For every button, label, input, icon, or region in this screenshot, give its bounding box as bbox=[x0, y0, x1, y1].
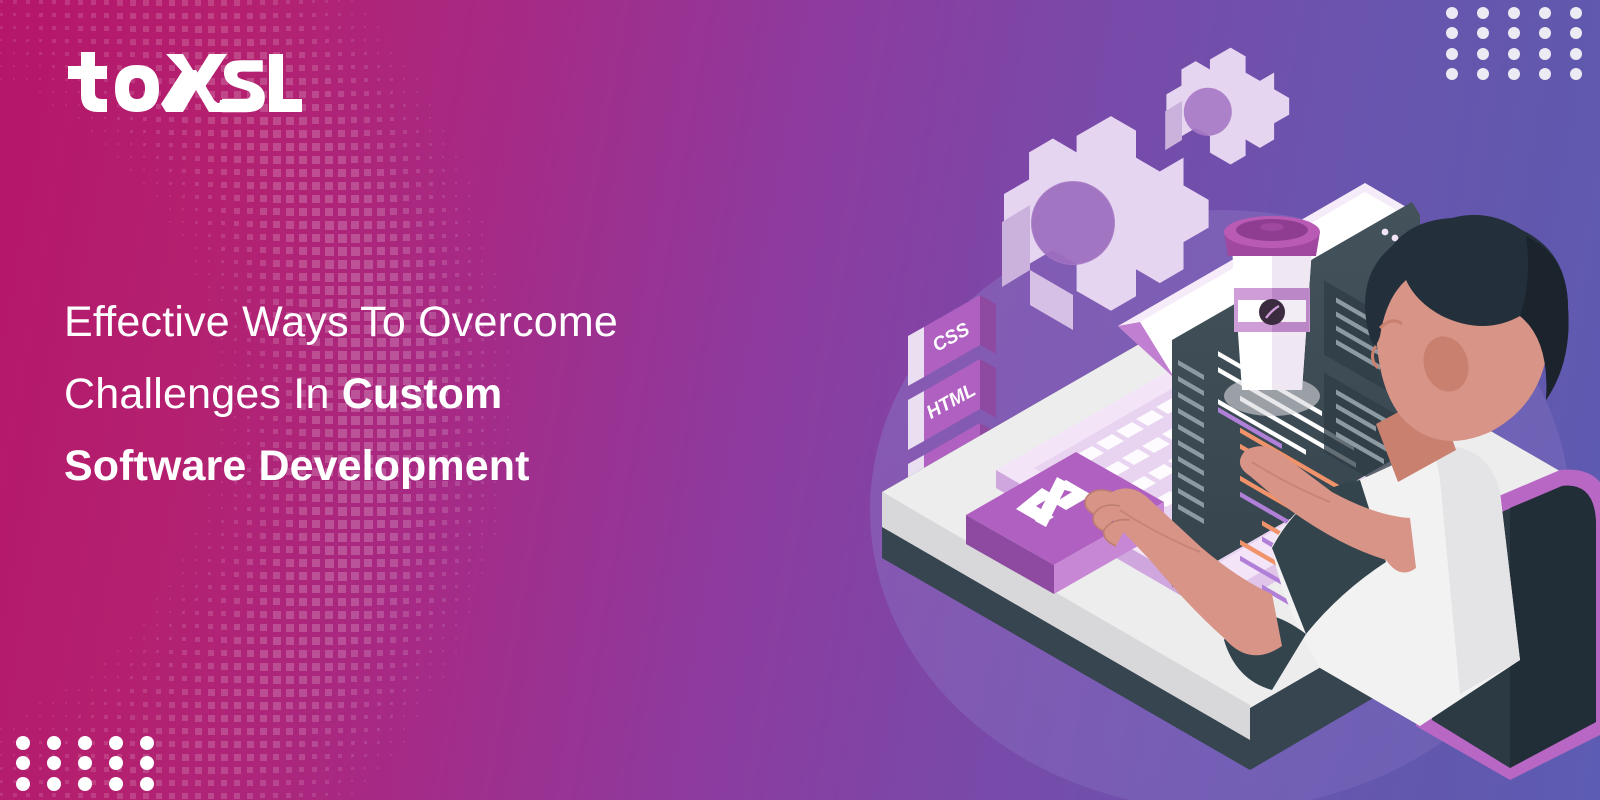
halftone-square bbox=[234, 715, 241, 722]
halftone-square bbox=[442, 637, 444, 639]
halftone-square bbox=[429, 117, 431, 119]
halftone-square bbox=[195, 143, 200, 148]
halftone-square bbox=[286, 182, 294, 190]
halftone-square bbox=[390, 572, 397, 579]
halftone-square bbox=[468, 195, 470, 197]
halftone-square bbox=[429, 182, 433, 186]
halftone-square bbox=[429, 546, 435, 552]
halftone-square bbox=[312, 689, 319, 696]
halftone-square bbox=[455, 520, 459, 524]
halftone-square bbox=[182, 637, 186, 641]
halftone-square bbox=[169, 195, 171, 197]
halftone-square bbox=[403, 546, 410, 553]
halftone-square bbox=[208, 169, 213, 174]
halftone-square bbox=[325, 715, 331, 721]
halftone-square bbox=[299, 26, 304, 31]
halftone-square bbox=[234, 13, 240, 19]
halftone-square bbox=[13, 52, 15, 54]
halftone-square bbox=[169, 156, 173, 160]
halftone-square bbox=[169, 767, 175, 773]
halftone-square bbox=[273, 234, 280, 241]
halftone-square bbox=[195, 39, 202, 46]
halftone-square bbox=[455, 624, 457, 626]
halftone-square bbox=[312, 624, 320, 632]
headline-line-1: Effective Ways To Overcome bbox=[64, 286, 824, 358]
halftone-square bbox=[234, 260, 238, 264]
halftone-square bbox=[416, 598, 421, 603]
halftone-square bbox=[104, 728, 108, 732]
halftone-square bbox=[234, 247, 239, 252]
halftone-square bbox=[260, 637, 267, 644]
halftone-square bbox=[273, 273, 280, 280]
halftone-square bbox=[169, 611, 171, 613]
halftone-square bbox=[442, 247, 447, 252]
halftone-square bbox=[455, 598, 458, 601]
halftone-square bbox=[273, 624, 281, 632]
halftone-square bbox=[390, 169, 396, 175]
halftone-square bbox=[312, 143, 320, 151]
halftone-square bbox=[247, 26, 253, 32]
halftone-square bbox=[221, 559, 225, 563]
halftone-square bbox=[403, 234, 410, 241]
halftone-square bbox=[364, 507, 373, 516]
halftone-square bbox=[338, 689, 345, 696]
halftone-square bbox=[364, 702, 369, 707]
halftone-square bbox=[65, 26, 69, 30]
halftone-square bbox=[429, 221, 434, 226]
developer-illustration: CSS HTML C++ bbox=[820, 40, 1600, 800]
halftone-square bbox=[403, 117, 406, 120]
halftone-square bbox=[286, 26, 291, 31]
halftone-square bbox=[325, 754, 330, 759]
halftone-square bbox=[325, 702, 332, 709]
halftone-square bbox=[403, 533, 410, 540]
halftone-square bbox=[234, 741, 241, 748]
halftone-square bbox=[104, 689, 107, 692]
halftone-square bbox=[390, 156, 396, 162]
halftone-square bbox=[273, 247, 280, 254]
halftone-square bbox=[234, 533, 238, 537]
halftone-square bbox=[338, 130, 345, 137]
halftone-square bbox=[182, 0, 188, 6]
halftone-square bbox=[208, 0, 214, 6]
halftone-square bbox=[481, 546, 483, 548]
halftone-square bbox=[52, 26, 56, 30]
halftone-square bbox=[377, 702, 381, 706]
halftone-square bbox=[234, 793, 240, 799]
dot bbox=[1508, 27, 1520, 39]
halftone-square bbox=[377, 559, 385, 567]
halftone-square bbox=[390, 182, 396, 188]
halftone-square bbox=[299, 754, 305, 760]
halftone-square bbox=[377, 637, 383, 643]
halftone-square bbox=[156, 689, 161, 694]
halftone-square bbox=[247, 13, 253, 19]
halftone-square bbox=[325, 91, 331, 97]
halftone-square bbox=[260, 195, 267, 202]
halftone-square bbox=[351, 533, 360, 542]
halftone-square bbox=[377, 663, 383, 669]
headline-line-2: Challenges In Custom bbox=[64, 358, 824, 430]
dot bbox=[1446, 7, 1458, 19]
halftone-square bbox=[455, 273, 459, 277]
halftone-square bbox=[130, 676, 133, 679]
halftone-square bbox=[156, 728, 162, 734]
halftone-square bbox=[390, 650, 395, 655]
halftone-square bbox=[182, 585, 184, 587]
halftone-square bbox=[143, 39, 149, 45]
halftone-square bbox=[273, 663, 281, 671]
halftone-square bbox=[351, 598, 359, 606]
halftone-square bbox=[481, 520, 483, 522]
halftone-square bbox=[286, 533, 293, 540]
halftone-square bbox=[299, 143, 307, 151]
halftone-square bbox=[325, 13, 328, 16]
halftone-square bbox=[455, 611, 457, 613]
halftone-square bbox=[351, 520, 360, 529]
halftone-square bbox=[130, 130, 133, 133]
halftone-square bbox=[260, 13, 266, 19]
halftone-square bbox=[390, 91, 393, 94]
halftone-square bbox=[351, 130, 358, 137]
halftone-square bbox=[143, 702, 148, 707]
halftone-square bbox=[429, 169, 433, 173]
halftone-square bbox=[208, 143, 214, 149]
halftone-square bbox=[286, 13, 291, 18]
halftone-square bbox=[39, 26, 43, 30]
halftone-square bbox=[416, 611, 421, 616]
halftone-square bbox=[442, 572, 446, 576]
halftone-square bbox=[273, 156, 281, 164]
halftone-square bbox=[377, 520, 385, 528]
halftone-square bbox=[442, 585, 446, 589]
halftone-square bbox=[442, 195, 445, 198]
halftone-square bbox=[208, 507, 210, 509]
halftone-square bbox=[247, 546, 252, 551]
halftone-square bbox=[299, 221, 307, 229]
halftone-square bbox=[286, 221, 294, 229]
halftone-square bbox=[481, 234, 483, 236]
halftone-square bbox=[390, 78, 393, 81]
halftone-square bbox=[403, 78, 405, 80]
halftone-square bbox=[312, 169, 320, 177]
halftone-square bbox=[403, 156, 408, 161]
halftone-square bbox=[429, 273, 435, 279]
halftone-square bbox=[351, 39, 354, 42]
halftone-square bbox=[403, 637, 408, 642]
halftone-square bbox=[195, 546, 197, 548]
halftone-square bbox=[234, 221, 239, 226]
halftone-square bbox=[442, 507, 448, 513]
halftone-square bbox=[260, 689, 268, 697]
halftone-square bbox=[416, 182, 421, 187]
halftone-square bbox=[208, 702, 215, 709]
halftone-square bbox=[156, 169, 158, 171]
halftone-square bbox=[39, 702, 41, 704]
halftone-square bbox=[416, 169, 420, 173]
halftone-square bbox=[377, 767, 379, 769]
halftone-square bbox=[260, 715, 267, 722]
halftone-square bbox=[351, 221, 359, 229]
halftone-square bbox=[208, 208, 212, 212]
halftone-square bbox=[247, 143, 254, 150]
halftone-square bbox=[312, 117, 319, 124]
halftone-square bbox=[416, 156, 420, 160]
halftone-square bbox=[273, 676, 281, 684]
halftone-square bbox=[0, 767, 3, 770]
halftone-square bbox=[26, 65, 28, 67]
halftone-square bbox=[416, 91, 418, 93]
halftone-square bbox=[351, 247, 360, 256]
halftone-square bbox=[221, 780, 227, 786]
halftone-square bbox=[351, 663, 358, 670]
halftone-square bbox=[390, 598, 397, 605]
halftone-square bbox=[234, 39, 241, 46]
halftone-square bbox=[299, 676, 307, 684]
halftone-square bbox=[273, 793, 278, 798]
halftone-square bbox=[312, 559, 320, 567]
halftone-square bbox=[260, 585, 267, 592]
halftone-square bbox=[156, 156, 159, 159]
halftone-square bbox=[442, 520, 447, 525]
halftone-square bbox=[208, 780, 214, 786]
halftone-square bbox=[208, 156, 214, 162]
halftone-square bbox=[195, 26, 202, 33]
halftone-square bbox=[403, 507, 411, 515]
halftone-square bbox=[429, 676, 431, 678]
halftone-square bbox=[286, 637, 294, 645]
halftone-square bbox=[247, 663, 254, 670]
halftone-square bbox=[260, 728, 267, 735]
halftone-square bbox=[130, 702, 134, 706]
halftone-square bbox=[442, 624, 445, 627]
halftone-square bbox=[0, 754, 2, 756]
halftone-square bbox=[299, 702, 306, 709]
halftone-square bbox=[299, 650, 307, 658]
halftone-square bbox=[0, 0, 3, 3]
halftone-square bbox=[377, 104, 381, 108]
halftone-square bbox=[286, 234, 294, 242]
halftone-square bbox=[221, 143, 227, 149]
halftone-square bbox=[429, 650, 432, 653]
halftone-square bbox=[312, 533, 320, 541]
halftone-square bbox=[299, 39, 304, 44]
halftone-square bbox=[260, 520, 266, 526]
halftone-square bbox=[468, 559, 471, 562]
halftone-square bbox=[117, 689, 120, 692]
halftone-square bbox=[455, 572, 458, 575]
halftone-square bbox=[299, 598, 307, 606]
halftone-square bbox=[247, 741, 254, 748]
halftone-square bbox=[312, 793, 316, 797]
halftone-square bbox=[442, 650, 444, 652]
halftone-square bbox=[312, 520, 320, 528]
halftone-square bbox=[182, 767, 189, 774]
halftone-square bbox=[299, 156, 307, 164]
halftone-square bbox=[299, 689, 307, 697]
halftone-square bbox=[325, 689, 332, 696]
halftone-square bbox=[234, 117, 241, 124]
halftone-square bbox=[234, 169, 240, 175]
halftone-square bbox=[312, 637, 320, 645]
halftone-square bbox=[338, 572, 347, 581]
halftone-square bbox=[26, 39, 29, 42]
halftone-square bbox=[351, 507, 360, 516]
halftone-square bbox=[403, 221, 410, 228]
halftone-square bbox=[338, 754, 342, 758]
halftone-square bbox=[429, 559, 435, 565]
halftone-square bbox=[221, 520, 224, 523]
halftone-square bbox=[338, 52, 342, 56]
halftone-square bbox=[455, 260, 459, 264]
halftone-square bbox=[364, 52, 367, 55]
halftone-square bbox=[286, 273, 293, 280]
halftone-square bbox=[234, 663, 241, 670]
halftone-square bbox=[416, 533, 423, 540]
halftone-square bbox=[273, 559, 280, 566]
halftone-square bbox=[0, 65, 2, 67]
halftone-square bbox=[403, 195, 409, 201]
halftone-square bbox=[156, 624, 158, 626]
halftone-square bbox=[208, 520, 210, 522]
halftone-square bbox=[208, 637, 213, 642]
halftone-square bbox=[260, 273, 266, 279]
halftone-square bbox=[117, 13, 123, 19]
halftone-square bbox=[208, 650, 214, 656]
halftone-square bbox=[312, 91, 319, 98]
halftone-square bbox=[325, 663, 333, 671]
halftone-square bbox=[299, 13, 303, 17]
halftone-square bbox=[195, 676, 201, 682]
headline-line-2-bold: Custom bbox=[342, 370, 503, 418]
toxsl-logo[interactable] bbox=[62, 48, 302, 118]
halftone-square bbox=[286, 130, 294, 138]
halftone-square bbox=[247, 715, 254, 722]
halftone-square bbox=[143, 637, 145, 639]
dot bbox=[1508, 68, 1520, 80]
dot bbox=[109, 736, 123, 750]
halftone-square bbox=[416, 104, 418, 106]
halftone-square bbox=[0, 52, 2, 54]
halftone-square bbox=[104, 13, 109, 18]
halftone-square bbox=[455, 650, 457, 652]
halftone-square bbox=[403, 273, 411, 281]
halftone-square bbox=[182, 728, 188, 734]
halftone-square bbox=[260, 208, 267, 215]
halftone-square bbox=[195, 559, 197, 561]
halftone-square bbox=[234, 507, 237, 510]
dot bbox=[1477, 27, 1489, 39]
halftone-square bbox=[273, 26, 279, 32]
halftone-square bbox=[299, 767, 304, 772]
halftone-square bbox=[299, 234, 307, 242]
halftone-square bbox=[221, 260, 224, 263]
halftone-square bbox=[351, 26, 354, 29]
halftone-square bbox=[195, 754, 202, 761]
dot-grid-top-right bbox=[1446, 7, 1596, 83]
halftone-square bbox=[429, 663, 431, 665]
halftone-square bbox=[351, 182, 359, 190]
halftone-square bbox=[260, 767, 266, 773]
dot bbox=[1508, 7, 1520, 19]
halftone-square bbox=[182, 624, 186, 628]
halftone-square bbox=[247, 169, 254, 176]
halftone-square bbox=[65, 0, 70, 5]
halftone-square bbox=[182, 676, 187, 681]
halftone-square bbox=[273, 754, 279, 760]
halftone-square bbox=[221, 663, 228, 670]
halftone-square bbox=[416, 507, 423, 514]
halftone-square bbox=[221, 0, 227, 6]
halftone-square bbox=[221, 585, 226, 590]
halftone-square bbox=[247, 221, 253, 227]
halftone-square bbox=[182, 26, 188, 32]
halftone-square bbox=[286, 546, 293, 553]
halftone-square bbox=[364, 156, 371, 163]
halftone-square bbox=[377, 208, 385, 216]
halftone-square bbox=[13, 728, 15, 730]
halftone-square bbox=[325, 533, 334, 542]
halftone-square bbox=[325, 728, 331, 734]
halftone-square bbox=[260, 247, 266, 253]
halftone-square bbox=[273, 533, 280, 540]
halftone-square bbox=[52, 104, 54, 106]
halftone-square bbox=[247, 754, 254, 761]
halftone-square bbox=[377, 676, 382, 681]
halftone-square bbox=[260, 780, 266, 786]
halftone-square bbox=[312, 104, 319, 111]
halftone-square bbox=[247, 637, 254, 644]
halftone-square bbox=[377, 182, 384, 189]
halftone-square bbox=[156, 702, 161, 707]
halftone-square bbox=[390, 585, 397, 592]
halftone-square bbox=[273, 572, 280, 579]
halftone-square bbox=[143, 169, 145, 171]
halftone-square bbox=[195, 689, 201, 695]
halftone-square bbox=[208, 572, 211, 575]
halftone-square bbox=[260, 117, 268, 125]
halftone-square bbox=[338, 78, 343, 83]
halftone-square bbox=[195, 533, 197, 535]
halftone-square bbox=[156, 637, 159, 640]
halftone-square bbox=[416, 715, 418, 717]
halftone-square bbox=[182, 195, 185, 198]
halftone-square bbox=[169, 741, 175, 747]
halftone-square bbox=[104, 39, 109, 44]
halftone-square bbox=[169, 650, 173, 654]
halftone-square bbox=[442, 663, 444, 665]
halftone-square bbox=[247, 780, 253, 786]
halftone-square bbox=[286, 689, 294, 697]
halftone-square bbox=[338, 0, 340, 2]
halftone-square bbox=[377, 741, 380, 744]
halftone-square bbox=[403, 624, 408, 629]
halftone-square bbox=[286, 728, 293, 735]
halftone-square bbox=[221, 26, 228, 33]
halftone-square bbox=[221, 624, 227, 630]
halftone-square bbox=[442, 260, 447, 265]
halftone-square bbox=[286, 676, 294, 684]
halftone-square bbox=[338, 520, 347, 529]
dot bbox=[1446, 68, 1458, 80]
halftone-square bbox=[377, 39, 379, 41]
halftone-square bbox=[390, 247, 398, 255]
halftone-square bbox=[390, 52, 392, 54]
halftone-square bbox=[260, 507, 265, 512]
halftone-square bbox=[260, 169, 267, 176]
halftone-square bbox=[312, 26, 316, 30]
halftone-square bbox=[156, 611, 158, 613]
